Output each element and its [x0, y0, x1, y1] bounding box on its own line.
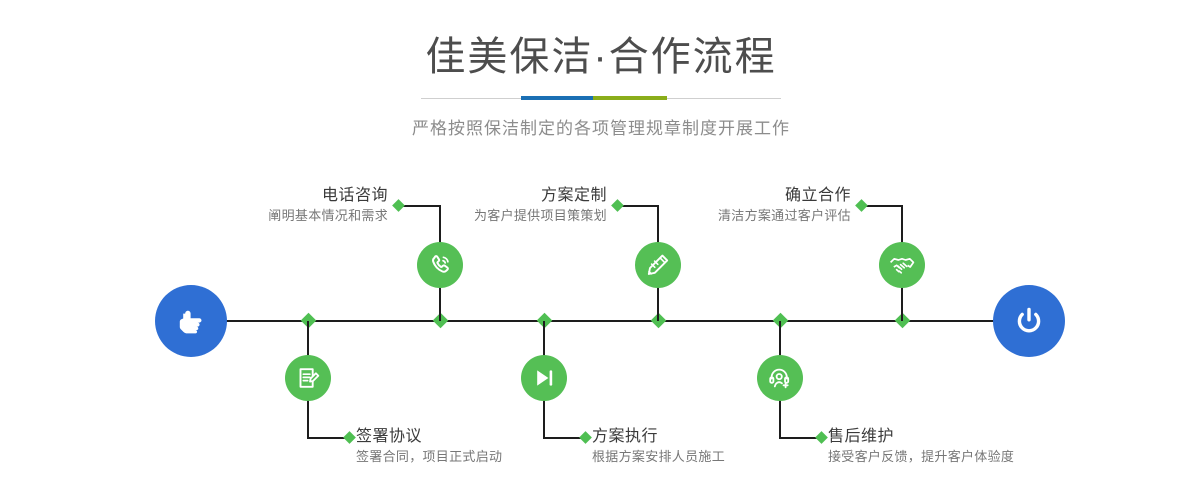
customer-support-icon [766, 364, 794, 392]
step-4-label: 方案执行 根据方案安排人员施工 [592, 427, 725, 466]
step-4-title: 方案执行 [592, 427, 725, 447]
step-1-label: 电话咨询 阐明基本情况和需求 [268, 186, 388, 225]
step-5-title: 售后维护 [828, 427, 1014, 447]
step-2-leader-marker [343, 431, 356, 444]
sign-document-icon [294, 364, 322, 392]
timeline: 电话咨询 阐明基本情况和需求 签署协议 签署合同，项目正式启动 [0, 0, 1202, 502]
step-4-icon-node [521, 355, 567, 401]
timeline-start-node [155, 285, 227, 357]
step-3-icon-node [635, 242, 681, 288]
step-1-leader-marker [392, 199, 405, 212]
timeline-end-node [993, 285, 1065, 357]
step-4-leader-marker [579, 431, 592, 444]
step-3-leader-marker [611, 199, 624, 212]
step-3-title: 方案定制 [474, 186, 607, 206]
step-5-icon-node [757, 355, 803, 401]
step-1-title: 电话咨询 [268, 186, 388, 206]
power-icon [1009, 301, 1049, 341]
step-1-icon-node [417, 242, 463, 288]
step-6-title: 确立合作 [718, 186, 851, 206]
handshake-icon [888, 251, 916, 279]
step-6-label: 确立合作 清洁方案通过客户评估 [718, 186, 851, 225]
step-6-icon-node [879, 242, 925, 288]
step-1-desc: 阐明基本情况和需求 [268, 206, 388, 225]
play-execute-icon [530, 364, 558, 392]
step-5-leader-marker [815, 431, 828, 444]
pointing-hand-icon [171, 301, 211, 341]
step-5-label: 售后维护 接受客户反馈，提升客户体验度 [828, 427, 1014, 466]
phone-call-icon [426, 251, 454, 279]
step-4-desc: 根据方案安排人员施工 [592, 447, 725, 466]
step-6-desc: 清洁方案通过客户评估 [718, 206, 851, 225]
step-2-desc: 签署合同，项目正式启动 [356, 447, 502, 466]
step-2-label: 签署协议 签署合同，项目正式启动 [356, 427, 502, 466]
step-6-leader-marker [855, 199, 868, 212]
process-flow-infographic: 佳美保洁·合作流程 严格按照保洁制定的各项管理规章制度开展工作 [0, 0, 1202, 502]
step-2-icon-node [285, 355, 331, 401]
pencil-ruler-icon [644, 251, 672, 279]
step-3-label: 方案定制 为客户提供项目策策划 [474, 186, 607, 225]
step-3-desc: 为客户提供项目策策划 [474, 206, 607, 225]
step-5-desc: 接受客户反馈，提升客户体验度 [828, 447, 1014, 466]
step-2-title: 签署协议 [356, 427, 502, 447]
